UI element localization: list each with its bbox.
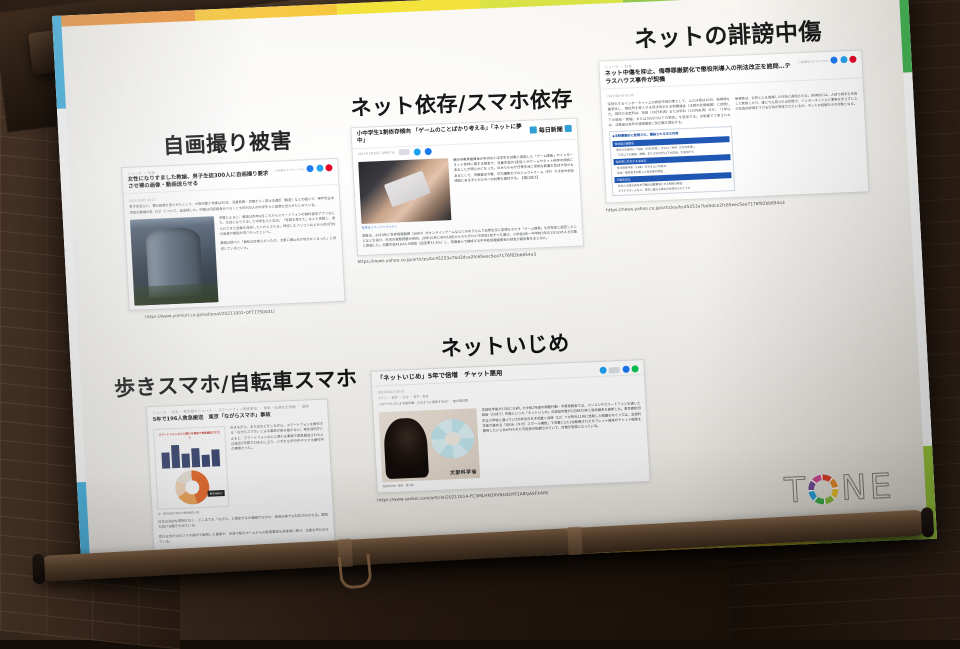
article-card-hibou[interactable]: ニュース ・ 社会 ネット中傷を抑止、侮辱罪厳罰化で懲役刑導入の刑法改正を諮問……	[598, 49, 869, 203]
chart-bars	[158, 438, 223, 469]
chart-caption: 注：東京消防庁管内の救急搬送人員	[158, 509, 230, 516]
share-row[interactable]: この記事をスクラップする	[797, 54, 857, 66]
line-icon[interactable]	[849, 56, 856, 63]
line-green-icon[interactable]	[631, 365, 638, 372]
tone-letter-e: E	[869, 470, 892, 505]
twitter-icon[interactable]	[840, 56, 847, 63]
slide-content: 自画撮り被害 ニュース ・ 社会 女性になりすました教諭、男子生徒300人に自画…	[62, 0, 928, 564]
article-card-arukisumaho[interactable]: ニュース・ 社会・ 東京都のニュース ・ スマートフォン関連事故 ・ 事故・交通…	[146, 399, 336, 552]
tone-ring-icon	[808, 474, 840, 505]
bookmark-icon[interactable]	[399, 149, 410, 155]
section-title-jidori: 自画撮り被害	[119, 123, 335, 162]
publisher-mark-icon	[530, 126, 537, 133]
share-row[interactable]: この記事をスクラップする	[273, 162, 333, 174]
section-title-ijime: ネットいじめ	[368, 324, 641, 366]
screen-pull-ring[interactable]	[338, 554, 373, 590]
article-paragraph: 侮辱罪は、公然と人を侮辱した行為に適用される。具体的には、人前で相手を名指しで罵…	[735, 91, 858, 112]
article-lead: 横浜市教育委員会が市内の小中学生を対象に実施した「ゲーム障害」やインターネット依…	[453, 153, 574, 185]
tone-logo: T N E	[784, 470, 892, 509]
article-lead: 歩きながら、またはなどをしながら、スマートフォンを操作する「ながらスマホ」による…	[230, 422, 324, 453]
section-title-izon: ネット依存/スマホ依存	[348, 83, 574, 123]
article-body: スマートフォンなどに関わる事故で救急搬送された人 東京消防庁 注：東京消防庁管内…	[148, 417, 333, 520]
tube-cap-left	[32, 554, 46, 585]
section-title-hibou: ネットの誹謗中傷	[596, 11, 860, 56]
tone-letter-n: N	[840, 471, 867, 506]
chart-source-tag: 東京消防庁	[208, 490, 225, 497]
article-card-ijime[interactable]: 「ネットいじめ」5年で倍増 チャット悪用 2021/10/14 18:15 ライ…	[370, 359, 650, 494]
share-row[interactable]	[599, 363, 639, 374]
tube-cap-right	[921, 507, 935, 538]
scrap-label[interactable]: この記事をスクラップする	[273, 167, 304, 172]
article-paragraph-1: 府警によると、教諭は昨年6月ごろからスマートフォンの無料通信アプリなどで、女性に…	[219, 211, 336, 237]
article-photo	[358, 158, 451, 224]
article-body: 写真はイメージ＝ゲッティ 横浜市教育委員会が市内の小中学生を対象に実施した「ゲー…	[353, 148, 582, 234]
projector-screen-area: 自画撮り被害 ニュース ・ 社会 女性になりすました教諭、男子生徒300人に自画…	[0, 0, 960, 640]
article-body: 深刻化するインターネット上の誹謗中傷対策として、上川法相は16日、侮辱罪を厳罰化…	[601, 89, 868, 202]
publisher-mark-icon-2	[565, 125, 572, 132]
section-arukisumaho: 歩きスマホ/自転車スマホ ニュース・ 社会・ 東京都のニュース ・ スマートフォ…	[110, 362, 370, 562]
publisher-row: 毎日新聞	[529, 122, 572, 135]
article-body: 文部科学省 文部科学省＝東京・霞が関 文部科学省が13日に公表した令和2年度の問…	[373, 397, 649, 493]
slide-surface: 自画撮り被害 ニュース ・ 社会 女性になりすました教諭、男子生徒300人に自画…	[52, 0, 937, 575]
facebook-icon[interactable]	[622, 366, 629, 373]
scrap-label[interactable]: この記事をスクラップする	[797, 58, 828, 63]
chart-thumbnail: スマートフォンなどに関わる事故で救急搬送された人 東京消防庁	[153, 426, 229, 510]
mext-logo-icon	[430, 418, 475, 459]
hatena-icon[interactable]	[608, 367, 619, 373]
article-card-izon[interactable]: 小中学生1割依存傾向 「ゲームのことばかり考える」「ネットに夢中」 毎日新聞 2…	[350, 118, 584, 256]
section-izon: ネット依存/スマホ依存 小中学生1割依存傾向 「ゲームのことばかり考える」「ネッ…	[348, 83, 582, 264]
article-photo	[130, 216, 219, 305]
infobox: ◆法制審議会に諮問され、議論される主な内容 侮辱罪の厳罰化 現行の法定刑は「拘留…	[609, 127, 735, 197]
article-paragraph: 文部科学省が13日に公表した令和2年度の問題行動・不登校調査では、パソコンやスマ…	[481, 401, 641, 434]
facebook-icon[interactable]	[306, 165, 313, 172]
facebook-icon[interactable]	[425, 148, 432, 155]
twitter-icon[interactable]	[316, 165, 323, 172]
section-hibou: ネットの誹謗中傷 ニュース ・ 社会 ネット中傷を抑止、侮辱罪厳罰化で懲役刑導入…	[596, 11, 868, 213]
article-lead: 深刻化するインターネット上の誹謗中傷対策として、上川法相は16日、侮辱罪を厳罰化…	[607, 97, 731, 129]
facebook-icon[interactable]	[830, 56, 837, 63]
publisher-name: 毎日新聞	[538, 124, 562, 134]
article-paragraph-2: 教諭は調べに「最初は好奇心だったが、次第に歯止めが利かなくなった」と供述している…	[220, 236, 336, 252]
section-ijime: ネットいじめ 「ネットいじめ」5年で倍増 チャット悪用	[368, 324, 649, 502]
tone-letter-t: T	[784, 473, 807, 508]
projector-screen: 自画撮り被害 ニュース ・ 社会 女性になりすました教諭、男子生徒300人に自画…	[52, 0, 937, 575]
line-icon[interactable]	[325, 164, 332, 171]
chart-donut	[174, 470, 210, 505]
tube-band-2	[567, 527, 582, 556]
mext-label: 文部科学省	[450, 468, 477, 476]
section-jidori: 自画撮り被害 ニュース ・ 社会 女性になりすました教諭、男子生徒300人に自画…	[119, 123, 344, 320]
section-title-arukisumaho: 歩きスマホ/自転車スマホ	[110, 362, 361, 403]
article-photo: 文部科学省	[379, 408, 481, 482]
twitter-icon[interactable]	[414, 148, 421, 155]
twitter-icon[interactable]	[599, 367, 606, 374]
article-card-jidori[interactable]: ニュース ・ 社会 女性になりすました教諭、男子生徒300人に自画撮り要求させ裸…	[121, 158, 345, 311]
article-body: 府警によると、教諭は昨年6月ごろからスマートフォンの無料通信アプリなどで、女性に…	[125, 207, 345, 310]
